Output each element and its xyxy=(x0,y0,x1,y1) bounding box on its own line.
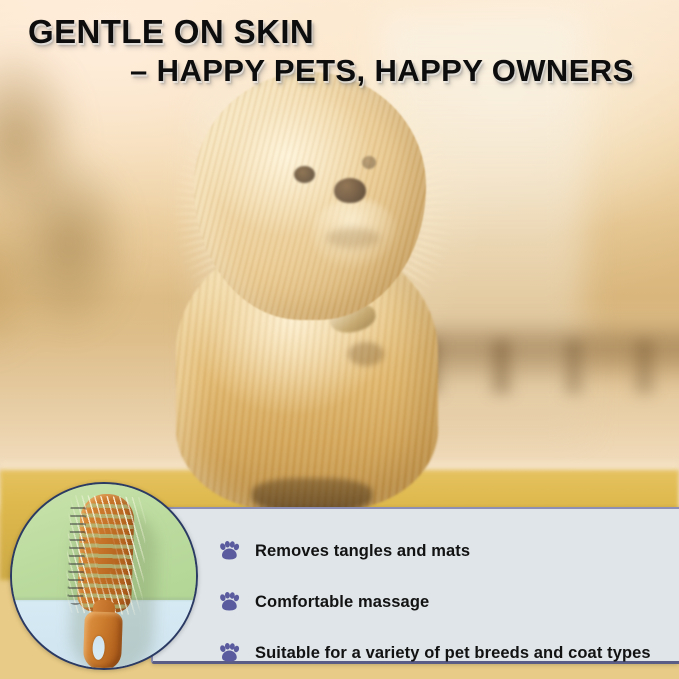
dog-chest-marking xyxy=(348,342,384,366)
headline-line-1: GENTLE ON SKIN xyxy=(0,14,679,50)
paw-print-icon xyxy=(218,541,240,561)
headline: GENTLE ON SKIN – HAPPY PETS, HAPPY OWNER… xyxy=(0,14,679,88)
paw-print-icon xyxy=(218,592,240,612)
dog-left-eye xyxy=(294,166,315,183)
feature-list-panel: Removes tangles and mats Comfortable mas… xyxy=(151,507,679,664)
dog-right-eye xyxy=(362,156,376,169)
background-foliage-blur xyxy=(0,41,149,367)
dog-photo-subject xyxy=(148,70,478,510)
feature-list: Removes tangles and mats Comfortable mas… xyxy=(218,531,671,679)
pet-brush-icon xyxy=(61,493,149,668)
dog-nose xyxy=(334,178,366,203)
list-item: Comfortable massage xyxy=(218,582,671,622)
product-inset-circle xyxy=(10,482,198,670)
dog-mouth-shadow xyxy=(326,228,380,248)
dog-head xyxy=(194,72,426,320)
paw-print-icon xyxy=(218,643,240,663)
list-item: Suitable for a variety of pet breeds and… xyxy=(218,633,671,673)
feature-label: Removes tangles and mats xyxy=(255,542,470,561)
dog-head-fur-texture xyxy=(194,72,426,320)
headline-line-2: – HAPPY PETS, HAPPY OWNERS xyxy=(0,54,679,88)
product-listing-image: GENTLE ON SKIN – HAPPY PETS, HAPPY OWNER… xyxy=(0,0,679,679)
feature-label: Suitable for a variety of pet breeds and… xyxy=(255,644,651,663)
feature-label: Comfortable massage xyxy=(255,593,429,612)
list-item: Removes tangles and mats xyxy=(218,531,671,571)
